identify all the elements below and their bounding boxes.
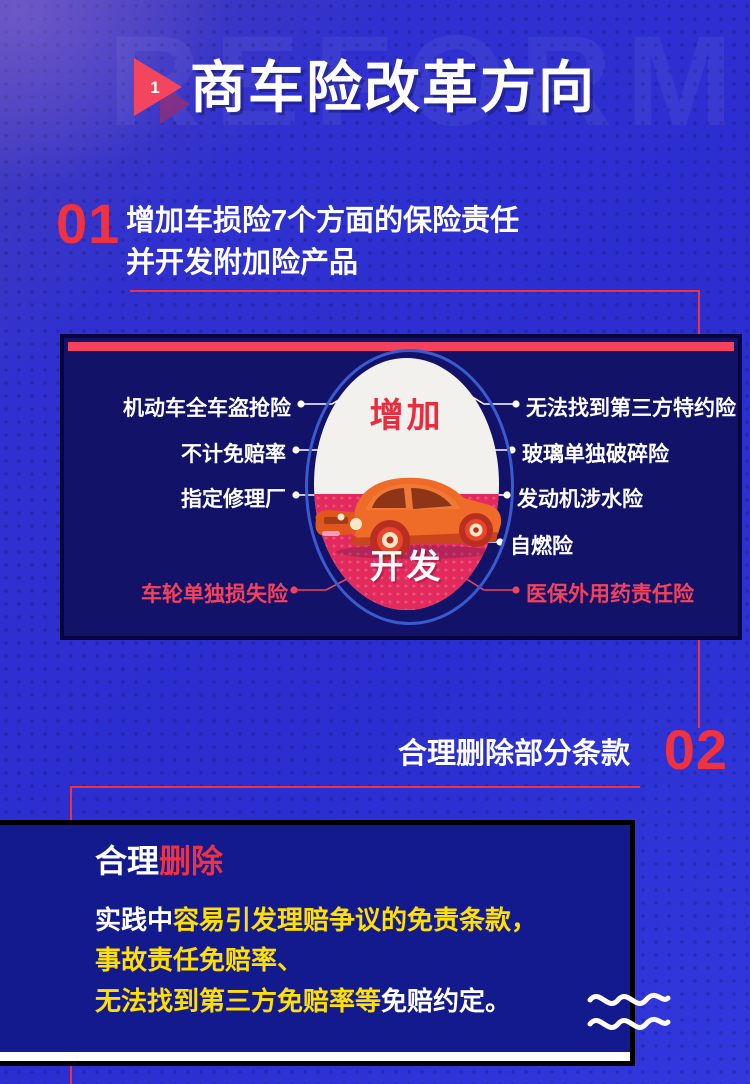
diagram-label-right-4: 自燃险 (510, 530, 573, 560)
logo-number: 1 (145, 79, 165, 96)
section-two-number: 02 (664, 722, 728, 778)
deletion-panel-body: 实践中容易引发理赔争议的免责条款， 事故责任免赔率、 无法找到第三方免赔率等免赔… (95, 900, 537, 1021)
coverage-diagram-panel: 增加 (60, 334, 742, 640)
deletion-body-line2-yellow: 事故责任免赔率、 (95, 945, 303, 975)
deletion-heading-white: 合理 (95, 843, 159, 879)
circle-bottom-label: 开发 (314, 539, 499, 588)
deletion-body-line3-yellow: 无法找到第三方免赔率等 (95, 986, 381, 1016)
section-one-number: 01 (56, 196, 120, 252)
deletion-body-line1-white: 实践中 (95, 905, 173, 935)
diagram-label-left-2: 不计免赔率 (181, 438, 286, 468)
diagram-label-left-1: 机动车全车盗抢险 (123, 392, 291, 422)
section-one-rule (130, 290, 700, 292)
section-one-rule-elbow (698, 290, 700, 336)
deletion-body-line3-white: 免赔约定。 (381, 986, 511, 1016)
diagram-label-left-3: 指定修理厂 (181, 483, 286, 513)
deletion-body-line-1: 实践中容易引发理赔争议的免责条款， (95, 900, 537, 940)
diagram-label-bottom-2: 医保外用药责任险 (526, 578, 694, 608)
center-circle: 增加 (314, 358, 499, 610)
circle-top-label: 增加 (314, 388, 499, 437)
coverage-diagram: 增加 (64, 338, 746, 644)
diagram-label-right-3: 发动机涉水险 (517, 483, 643, 513)
diagram-label-right-2: 玻璃单独破碎险 (522, 438, 669, 468)
deletion-panel-heading: 合理删除 (95, 845, 223, 877)
page-title: 商车险改革方向 (190, 54, 596, 121)
section-two-rule (70, 786, 640, 788)
section-one-heading: 增加车损险7个方面的保险责任 并开发附加险产品 (126, 200, 519, 284)
deletion-body-line-2: 事故责任免赔率、 (95, 940, 537, 980)
section-one-line1: 增加车损险7个方面的保险责任 (126, 200, 519, 242)
deletion-body-line-3: 无法找到第三方免赔率等免赔约定。 (95, 981, 537, 1021)
section-two-connector-line (698, 640, 700, 728)
deletion-heading-red: 删除 (159, 843, 223, 879)
deletion-body-line1-yellow: 容易引发理赔争议的免责条款， (173, 905, 537, 935)
diagram-label-bottom-1: 车轮单独损失险 (141, 578, 288, 608)
section-one-line2: 并开发附加险产品 (126, 242, 519, 284)
deletion-panel-bottom-strip (0, 1052, 635, 1061)
section-two-heading: 合理删除部分条款 (398, 730, 630, 772)
infographic-page: REFORM 1 商车险改革方向 01 增加车损险7个方面的保险责任 并开发附加… (0, 0, 750, 1084)
diagram-label-right-1: 无法找到第三方特约险 (526, 392, 736, 422)
wave-decoration-icon (586, 984, 672, 1036)
